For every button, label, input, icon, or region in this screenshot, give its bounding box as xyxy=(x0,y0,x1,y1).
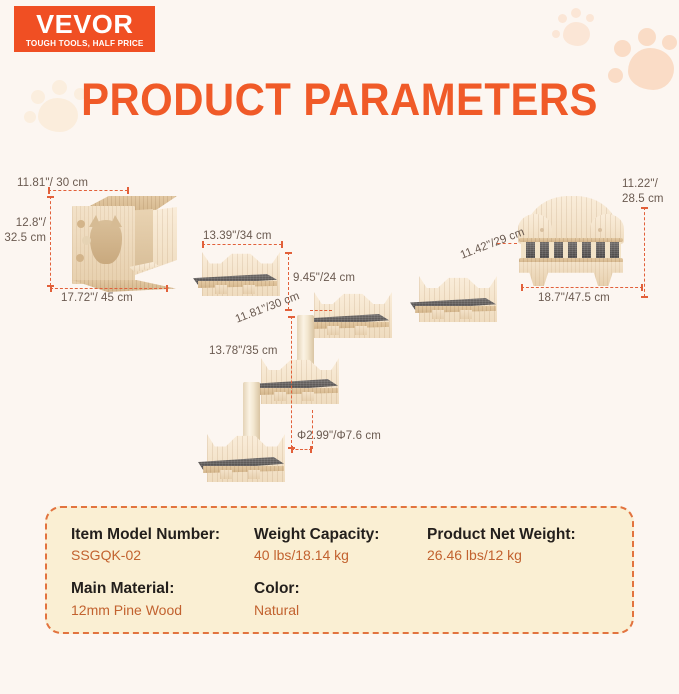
cloud-perch-apron xyxy=(519,262,623,286)
dim-cap-house-top-right xyxy=(127,187,129,194)
page-title: PRODUCT PARAMETERS xyxy=(24,77,655,122)
spec-value: 40 lbs/18.14 kg xyxy=(254,546,427,566)
dim-cap-step-h-top xyxy=(288,316,295,318)
dim-label-perch-height: 11.22"/ 28.5 cm xyxy=(622,177,664,206)
hole-circle-3 xyxy=(76,254,84,262)
dim-cap-perch-w-right xyxy=(641,284,643,291)
dim-line-post-diameter xyxy=(291,449,312,450)
dim-line-shelf-width xyxy=(202,244,282,245)
dim-line-house-bottom xyxy=(50,288,167,289)
spec-main-material: Main Material: 12mm Pine Wood xyxy=(71,578,254,620)
dim-cap-perch-h-top xyxy=(641,207,648,209)
cloud-railing-top-bar xyxy=(519,238,623,242)
dim-cap-house-bot-right xyxy=(166,285,168,292)
vevor-logo: VEVOR TOUGH TOOLS, HALF PRICE xyxy=(14,6,155,52)
dim-label-house-width-bottom: 17.72"/ 45 cm xyxy=(61,291,133,306)
dim-cap-shelf-w-right xyxy=(281,241,283,248)
brand-tagline: TOUGH TOOLS, HALF PRICE xyxy=(26,40,144,48)
dim-line-house-height xyxy=(50,196,51,286)
dim-line-step-height xyxy=(291,316,292,448)
dim-label-post-diameter: Φ2.99"/Φ7.6 cm xyxy=(297,429,381,444)
cloud-railing xyxy=(521,240,621,260)
right-shelf-bracket-left xyxy=(432,310,444,319)
cat-ear-left-cutout xyxy=(89,215,101,227)
spec-weight-capacity: Weight Capacity: 40 lbs/18.14 kg xyxy=(254,524,427,566)
spec-color: Color: Natural xyxy=(254,578,427,620)
spec-label: Color: xyxy=(254,578,427,600)
dim-cap-post-d-left xyxy=(291,446,293,453)
dim-line-perch-width xyxy=(521,287,643,288)
dim-label-shelf-depth: 9.45"/24 cm xyxy=(293,271,355,286)
product-right-shelf xyxy=(410,276,502,328)
specifications-grid: Item Model Number: SSGQK-02 Weight Capac… xyxy=(71,524,618,620)
spec-item-model-number: Item Model Number: SSGQK-02 xyxy=(71,524,254,566)
cloud-mount-hole-right xyxy=(598,228,602,232)
dim-line-perch-depth-arrow xyxy=(497,243,517,244)
spec-value: 12mm Pine Wood xyxy=(71,601,254,621)
product-upper-shelf xyxy=(193,252,283,302)
hole-circle-2 xyxy=(82,236,91,245)
step2-bracket-right xyxy=(248,470,260,479)
step1-bracket-left xyxy=(274,392,286,401)
product-step-platform-2 xyxy=(198,434,290,488)
hole-circle-1 xyxy=(77,220,85,228)
cat-ear-right-cutout xyxy=(110,215,122,227)
dim-cap-shelf-d-top xyxy=(285,252,292,254)
dim-label-shelf-width: 13.39"/34 cm xyxy=(203,229,272,244)
spec-label: Weight Capacity: xyxy=(254,524,427,546)
step2-bracket-left xyxy=(220,470,232,479)
dim-cap-perch-w-left xyxy=(521,284,523,291)
dim-line-step-width-arrow xyxy=(310,310,332,311)
dim-line-perch-height xyxy=(644,207,645,297)
product-cloud-perch xyxy=(512,196,628,298)
product-cat-house xyxy=(55,196,177,286)
paw-print-decor-top-small xyxy=(551,8,597,52)
dim-label-house-width-top: 11.81"/ 30 cm xyxy=(17,176,88,191)
upper-shelf-backboard xyxy=(202,252,280,296)
spec-product-net-weight: Product Net Weight: 26.46 lbs/12 kg xyxy=(427,524,618,566)
cloud-mount-hole-left xyxy=(540,228,544,232)
spec-label: Main Material: xyxy=(71,578,254,600)
mid-shelf-bracket-left xyxy=(327,326,339,335)
dim-label-step-height: 13.78"/35 cm xyxy=(209,344,278,359)
specifications-panel: Item Model Number: SSGQK-02 Weight Capac… xyxy=(45,506,634,634)
dim-cap-house-h-top xyxy=(47,196,54,198)
upper-shelf-bracket-left xyxy=(215,285,227,294)
product-parameters-page: VEVOR TOUGH TOOLS, HALF PRICE PRODUCT PA… xyxy=(0,0,679,694)
dim-cap-house-bot-left xyxy=(50,285,52,292)
spec-empty-cell xyxy=(427,578,618,620)
spec-value: 26.46 lbs/12 kg xyxy=(427,546,618,566)
dim-label-perch-width: 18.7"/47.5 cm xyxy=(538,291,610,306)
brand-name: VEVOR xyxy=(36,11,133,37)
right-shelf-bracket-right xyxy=(460,310,472,319)
spec-value: Natural xyxy=(254,601,427,621)
spec-value: SSGQK-02 xyxy=(71,546,254,566)
product-step-platform-1 xyxy=(252,358,344,410)
upper-shelf-bracket-right xyxy=(243,285,255,294)
dim-cap-perch-h-bot xyxy=(641,296,648,298)
step1-bracket-right xyxy=(302,392,314,401)
product-mid-shelf xyxy=(305,292,395,344)
spec-label: Item Model Number: xyxy=(71,524,254,546)
dim-label-house-height: 12.8"/ 32.5 cm xyxy=(2,216,46,245)
spec-label: Product Net Weight: xyxy=(427,524,618,546)
mid-shelf-bracket-right xyxy=(355,326,367,335)
dim-cap-shelf-d-bot xyxy=(285,309,292,311)
